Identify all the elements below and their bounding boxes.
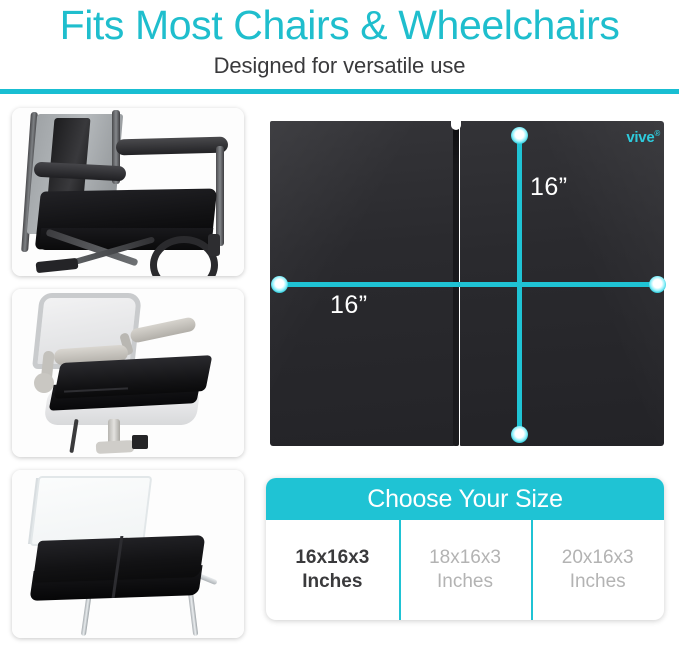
- height-dimension-label: 16”: [530, 173, 568, 202]
- size-option-18x16x3[interactable]: 18x16x3 Inches: [399, 520, 532, 620]
- clear-chair-backrest: [30, 476, 153, 546]
- photo-card-office-chair[interactable]: [12, 289, 244, 457]
- clear-chair-photo: [12, 470, 244, 638]
- office-chair-photo: [12, 289, 244, 457]
- dimension-line-vertical: [517, 133, 522, 434]
- width-dimension-label: 16”: [330, 291, 368, 320]
- wheelchair-footplate: [36, 258, 79, 273]
- product-dimension-diagram: 16” 16” vive®: [262, 105, 672, 465]
- photo-gallery: [12, 108, 248, 641]
- main-content: 16” 16” vive® Choose Your Size 16x16x3 I…: [0, 101, 679, 647]
- wheelchair-armrest-post-far: [216, 146, 224, 246]
- brand-logo-text: vive: [626, 129, 654, 146]
- size-option-unit: Inches: [570, 570, 626, 594]
- size-options-list: 16x16x3 Inches 18x16x3 Inches 20x16x3 In…: [266, 520, 664, 620]
- size-option-20x16x3[interactable]: 20x16x3 Inches: [531, 520, 664, 620]
- photo-card-clear-chair[interactable]: [12, 470, 244, 638]
- office-chair-pivot-hub: [34, 373, 54, 393]
- office-chair-lever: [132, 435, 148, 449]
- dimension-endpoint-left-icon: [271, 276, 288, 293]
- photo-card-wheelchair[interactable]: [12, 108, 244, 276]
- dimension-endpoint-bottom-icon: [511, 426, 528, 443]
- size-option-dimensions: 18x16x3: [429, 546, 501, 570]
- brand-logo-mark: ®: [654, 129, 660, 138]
- size-option-dimensions: 16x16x3: [295, 546, 369, 570]
- dimension-endpoint-top-icon: [511, 127, 528, 144]
- size-option-unit: Inches: [437, 570, 493, 594]
- page-title: Fits Most Chairs & Wheelchairs: [0, 0, 679, 48]
- wheelchair-armrest-far: [116, 137, 228, 156]
- office-chair-armrest-far: [129, 316, 196, 343]
- dimension-endpoint-right-icon: [649, 276, 666, 293]
- wheelchair-caster: [208, 234, 220, 256]
- brand-logo: vive®: [626, 129, 660, 146]
- page-subtitle: Designed for versatile use: [0, 48, 679, 79]
- size-option-16x16x3[interactable]: 16x16x3 Inches: [266, 520, 399, 620]
- dimension-line-horizontal: [278, 282, 656, 287]
- size-option-dimensions: 20x16x3: [562, 546, 634, 570]
- wheelchair-photo: [12, 108, 244, 276]
- office-chair-base: [96, 440, 135, 454]
- header-divider: [0, 89, 679, 94]
- size-selector-card: Choose Your Size 16x16x3 Inches 18x16x3 …: [266, 478, 664, 620]
- size-option-unit: Inches: [302, 570, 362, 594]
- size-selector-heading: Choose Your Size: [266, 478, 664, 520]
- header: Fits Most Chairs & Wheelchairs Designed …: [0, 0, 679, 96]
